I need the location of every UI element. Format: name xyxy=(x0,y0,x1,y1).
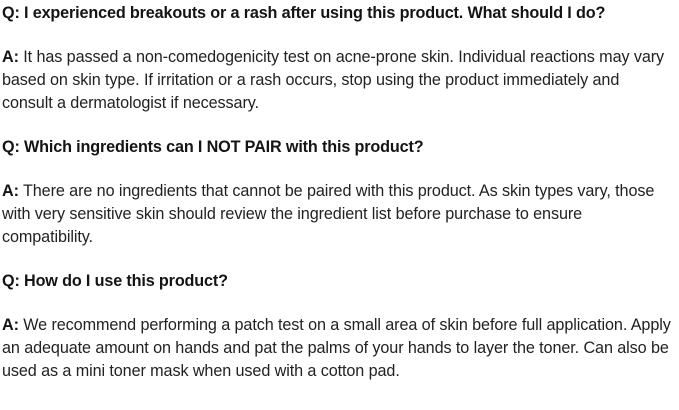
faq-answer: A: There are no ingredients that cannot … xyxy=(2,180,674,249)
faq-answer: A: We recommend performing a patch test … xyxy=(2,314,674,383)
faq-question: Q: I experienced breakouts or a rash aft… xyxy=(2,2,677,25)
faq-question: Q: Which ingredients can I NOT PAIR with… xyxy=(2,136,677,159)
faq-entry: Q: Which ingredients can I NOT PAIR with… xyxy=(2,136,677,249)
answer-body: We recommend performing a patch test on … xyxy=(2,316,671,380)
answer-prefix: A: xyxy=(2,182,19,200)
faq-document: Q: I experienced breakouts or a rash aft… xyxy=(0,0,679,410)
answer-body: There are no ingredients that cannot be … xyxy=(2,182,654,246)
answer-prefix: A: xyxy=(2,316,19,334)
faq-entry: Q: I experienced breakouts or a rash aft… xyxy=(2,2,677,115)
faq-question: Q: How do I use this product? xyxy=(2,270,677,293)
answer-prefix: A: xyxy=(2,48,19,66)
faq-entry: Q: How do I use this product? A: We reco… xyxy=(2,270,677,383)
answer-body: It has passed a non-comedogenicity test … xyxy=(2,48,664,112)
faq-answer: A: It has passed a non-comedogenicity te… xyxy=(2,46,674,115)
